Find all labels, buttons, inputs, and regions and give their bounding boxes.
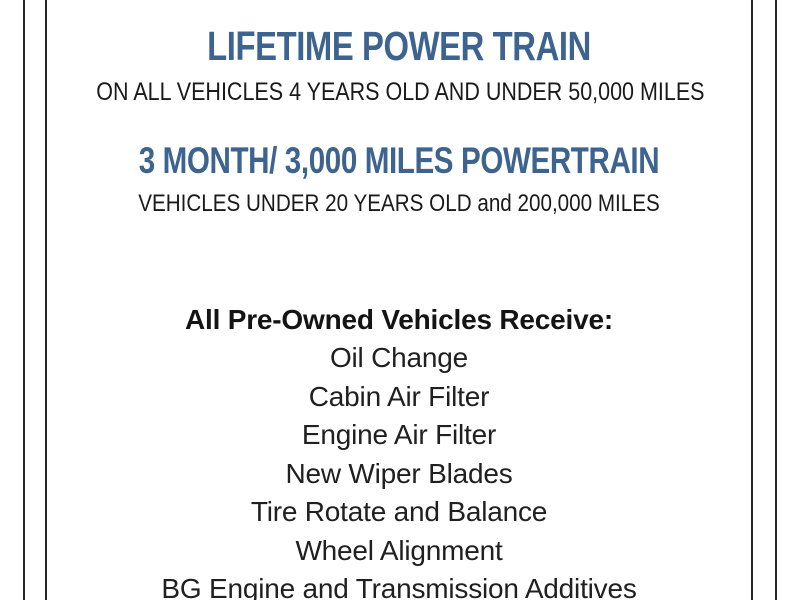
flyer-content: LIFETIME POWER TRAIN ON ALL VEHICLES 4 Y… <box>47 0 751 600</box>
service-section-heading: All Pre-Owned Vehicles Receive: <box>47 301 751 339</box>
service-list-item: BG Engine and Transmission Additives <box>47 570 751 600</box>
warranty-offer-subtitle: VEHICLES UNDER 20 YEARS OLD and 200,000 … <box>96 192 701 216</box>
warranty-service-flyer: LIFETIME POWER TRAIN ON ALL VEHICLES 4 Y… <box>0 0 800 600</box>
service-list-item: Oil Change <box>47 339 751 378</box>
frame-rule-left-outer <box>23 0 25 600</box>
frame-rule-right-inner <box>751 0 753 600</box>
service-list-item: Cabin Air Filter <box>47 378 751 417</box>
frame-rule-right-outer <box>775 0 777 600</box>
warranty-offer-subtitle: ON ALL VEHICLES 4 YEARS OLD AND UNDER 50… <box>96 80 701 105</box>
service-list-item: Engine Air Filter <box>47 416 751 455</box>
service-list-item: Tire Rotate and Balance <box>47 493 751 532</box>
service-list-item: New Wiper Blades <box>47 455 751 494</box>
service-item-list: Oil ChangeCabin Air FilterEngine Air Fil… <box>47 339 751 600</box>
warranty-offer-three-month-powertrain: 3 MONTH/ 3,000 MILES POWERTRAIN VEHICLES… <box>47 142 751 216</box>
warranty-offer-title: 3 MONTH/ 3,000 MILES POWERTRAIN <box>117 142 680 179</box>
warranty-offer-lifetime-powertrain: LIFETIME POWER TRAIN ON ALL VEHICLES 4 Y… <box>47 26 751 105</box>
service-inclusions-section: All Pre-Owned Vehicles Receive: Oil Chan… <box>47 301 751 600</box>
warranty-offer-title: LIFETIME POWER TRAIN <box>117 26 680 67</box>
service-list-item: Wheel Alignment <box>47 532 751 571</box>
